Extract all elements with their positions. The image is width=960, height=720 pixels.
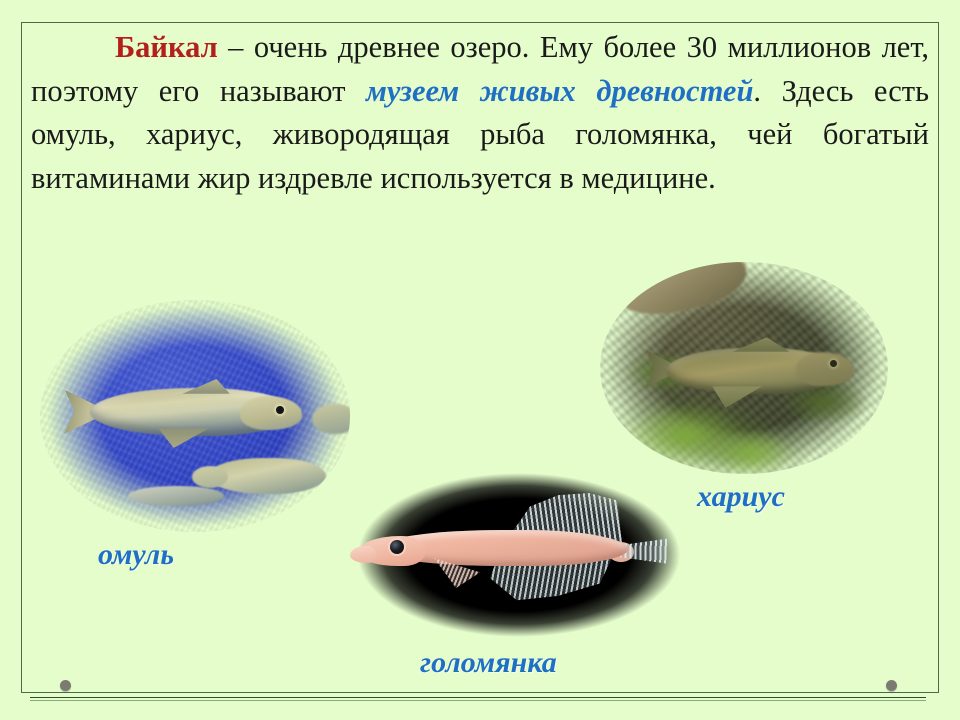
photo-harius: [600, 262, 888, 474]
harius-fish-eye: [830, 360, 837, 367]
bullet-dot-left-icon: [60, 680, 71, 691]
slide-canvas: Байкал – очень древнее озеро. Ему более …: [0, 0, 960, 720]
caption-harius: хариус: [697, 480, 785, 514]
omul-fish-eye: [276, 406, 284, 414]
omul-fish-main: [62, 388, 312, 438]
highlight-baikal: Байкал: [115, 30, 218, 64]
bottom-divider-rule: [30, 697, 926, 701]
golomyanka-eye: [390, 540, 404, 554]
omul-fish-edge-right: [312, 404, 350, 434]
photo-golomyanka: [340, 464, 698, 646]
caption-golomyanka: голомянка: [420, 646, 557, 680]
omul-fish-small-2-head: [192, 466, 228, 488]
omul-fish-small-1: [128, 486, 224, 506]
omul-fish-head: [240, 396, 302, 430]
highlight-museum-phrase: музеем живых древностей: [366, 74, 753, 108]
bullet-dot-right-icon: [886, 680, 897, 691]
photo-omul: [40, 300, 350, 532]
body-paragraph: Байкал – очень древнее озеро. Ему более …: [31, 26, 929, 200]
caption-omul: омуль: [98, 538, 174, 572]
golomyanka-snout: [350, 546, 376, 563]
harius-fish-head: [796, 352, 854, 386]
